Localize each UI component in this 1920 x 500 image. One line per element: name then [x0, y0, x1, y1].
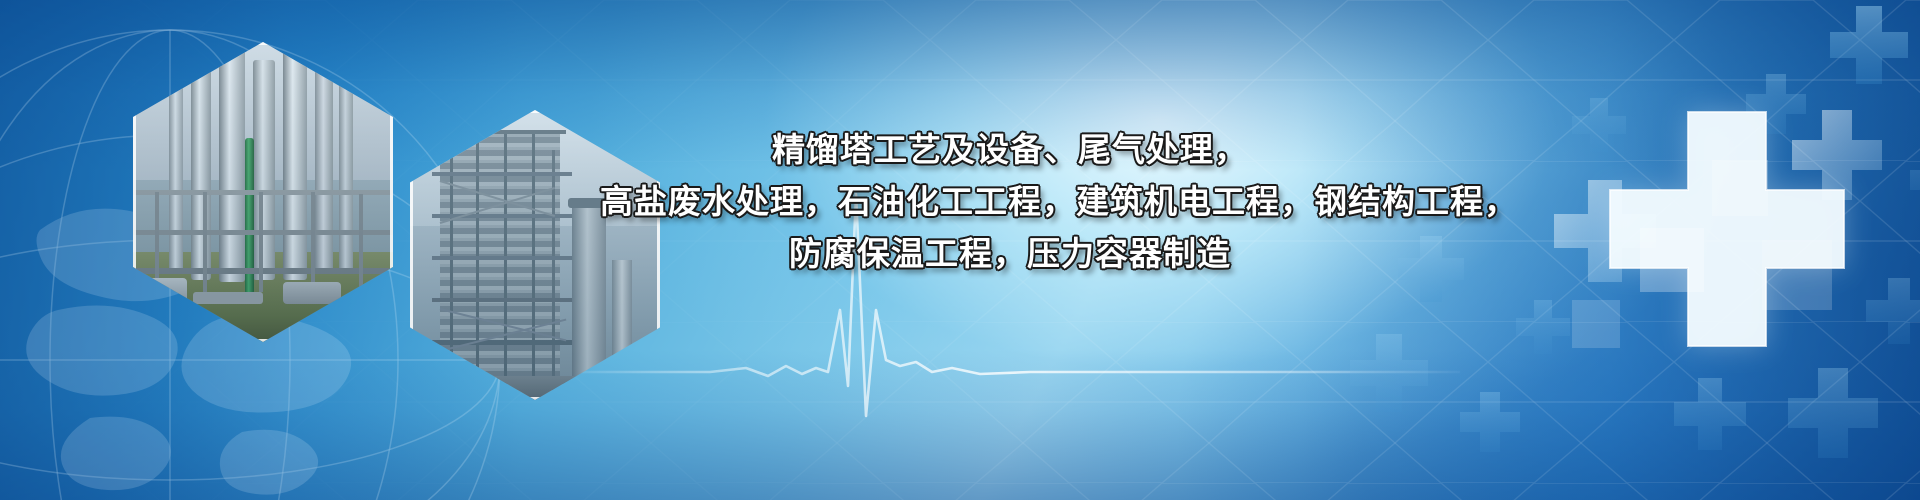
slogan-line-3: 防腐保温工程，压力容器制造	[600, 228, 1420, 280]
slogan-line-1: 精馏塔工艺及设备、尾气处理，	[600, 124, 1420, 176]
hero-banner: 精馏塔工艺及设备、尾气处理， 高盐废水处理，石油化工工程，建筑机电工程，钢结构工…	[0, 0, 1920, 500]
slogan-line-2: 高盐废水处理，石油化工工程，建筑机电工程，钢结构工程，	[600, 176, 1420, 228]
banner-slogan: 精馏塔工艺及设备、尾气处理， 高盐废水处理，石油化工工程，建筑机电工程，钢结构工…	[600, 124, 1420, 280]
